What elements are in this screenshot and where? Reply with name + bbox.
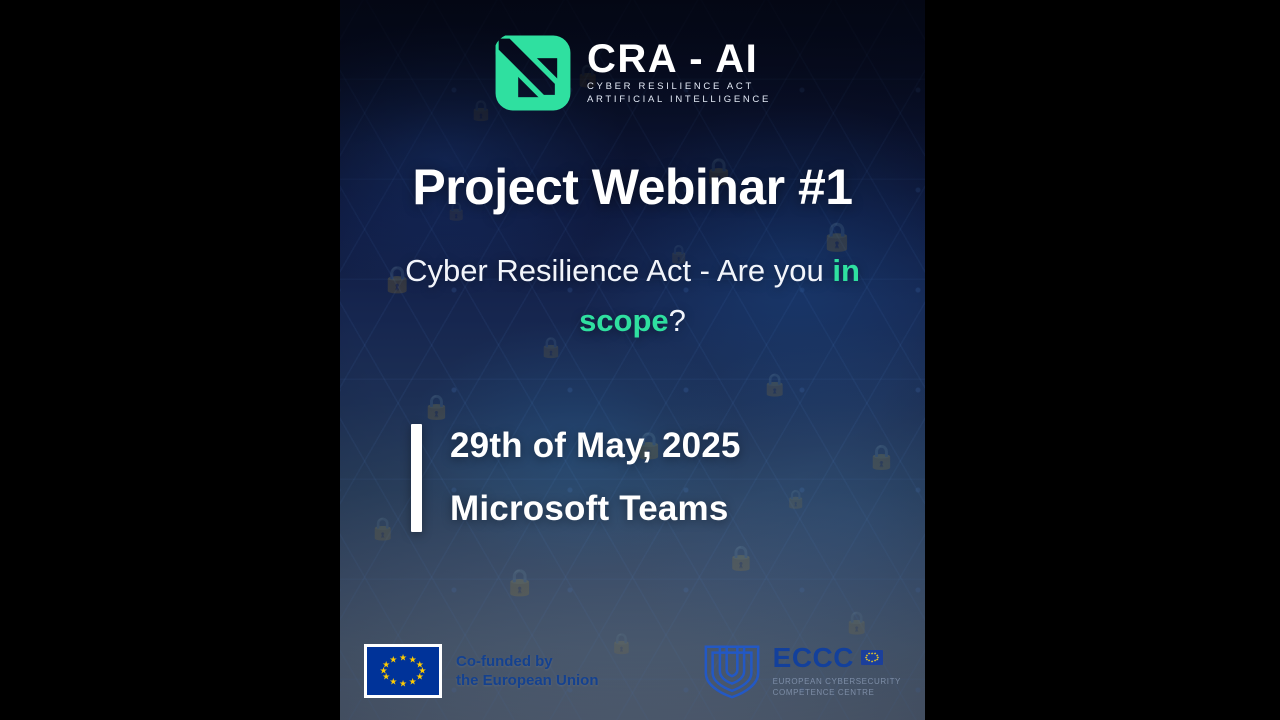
eu-funding-line-1: Co-funded by — [456, 652, 599, 671]
eccc-name: ECCC — [773, 644, 854, 672]
eccc-lockup: ECCC ★★★★★★★★★★★★ EUROPEAN CYBERSECURITY… — [701, 640, 901, 702]
eccc-subtitle-line-2: COMPETENCE CENTRE — [773, 687, 901, 698]
webinar-poster: 🔒🔒🔒🔒🔒🔒🔒🔒🔒🔒🔒🔒🔒🔒🔒🔒🔒🔒 — [340, 0, 925, 720]
eu-flag-star: ★ — [399, 654, 407, 663]
eu-funding-line-2: the European Union — [456, 671, 599, 690]
event-platform: Microsoft Teams — [450, 489, 741, 528]
eu-flag-star: ★ — [399, 679, 407, 688]
funders-footer: ★★★★★★★★★★★★ Co-funded by the European U… — [364, 640, 901, 702]
eccc-flag-star: ★ — [873, 660, 876, 663]
eccc-eu-mini-flag-icon: ★★★★★★★★★★★★ — [861, 650, 883, 665]
eccc-shield-icon — [701, 640, 763, 702]
eu-flag-star: ★ — [409, 678, 417, 687]
subtitle-part-1: Cyber Resilience Act - Are you — [405, 253, 832, 288]
letterbox-right — [925, 0, 1280, 720]
subtitle-part-2: ? — [669, 303, 686, 338]
eccc-subtitle-line-1: EUROPEAN CYBERSECURITY — [773, 676, 901, 687]
eu-flag-star: ★ — [416, 673, 424, 682]
event-date: 29th of May, 2025 — [450, 426, 741, 465]
brand-title: CRA - AI — [587, 39, 771, 80]
brand-lockup: CRA - AI CYBER RESILIENCE ACT ARTIFICIAL… — [340, 34, 925, 112]
eu-funding-text: Co-funded by the European Union — [456, 652, 599, 690]
eu-flag-star: ★ — [389, 678, 397, 687]
subtitle: Cyber Resilience Act - Are you in scope? — [388, 246, 877, 345]
eccc-flag-star: ★ — [870, 660, 873, 663]
accent-bar — [411, 424, 422, 532]
eu-funding-lockup: ★★★★★★★★★★★★ Co-funded by the European U… — [364, 644, 599, 698]
screenshot-canvas: 🔒🔒🔒🔒🔒🔒🔒🔒🔒🔒🔒🔒🔒🔒🔒🔒🔒🔒 — [0, 0, 1280, 720]
brand-subtitle-line-2: ARTIFICIAL INTELLIGENCE — [587, 93, 771, 107]
european-union-flag-icon: ★★★★★★★★★★★★ — [364, 644, 442, 698]
event-details: 29th of May, 2025 Microsoft Teams — [411, 424, 885, 532]
headline: Project Webinar #1 — [340, 158, 925, 216]
eu-flag-star: ★ — [389, 655, 397, 664]
eccc-flag-star: ★ — [867, 653, 870, 656]
letterbox-left — [0, 0, 340, 720]
brand-subtitle-line-1: CYBER RESILIENCE ACT — [587, 80, 771, 94]
cra-ai-logo-icon — [494, 34, 572, 112]
